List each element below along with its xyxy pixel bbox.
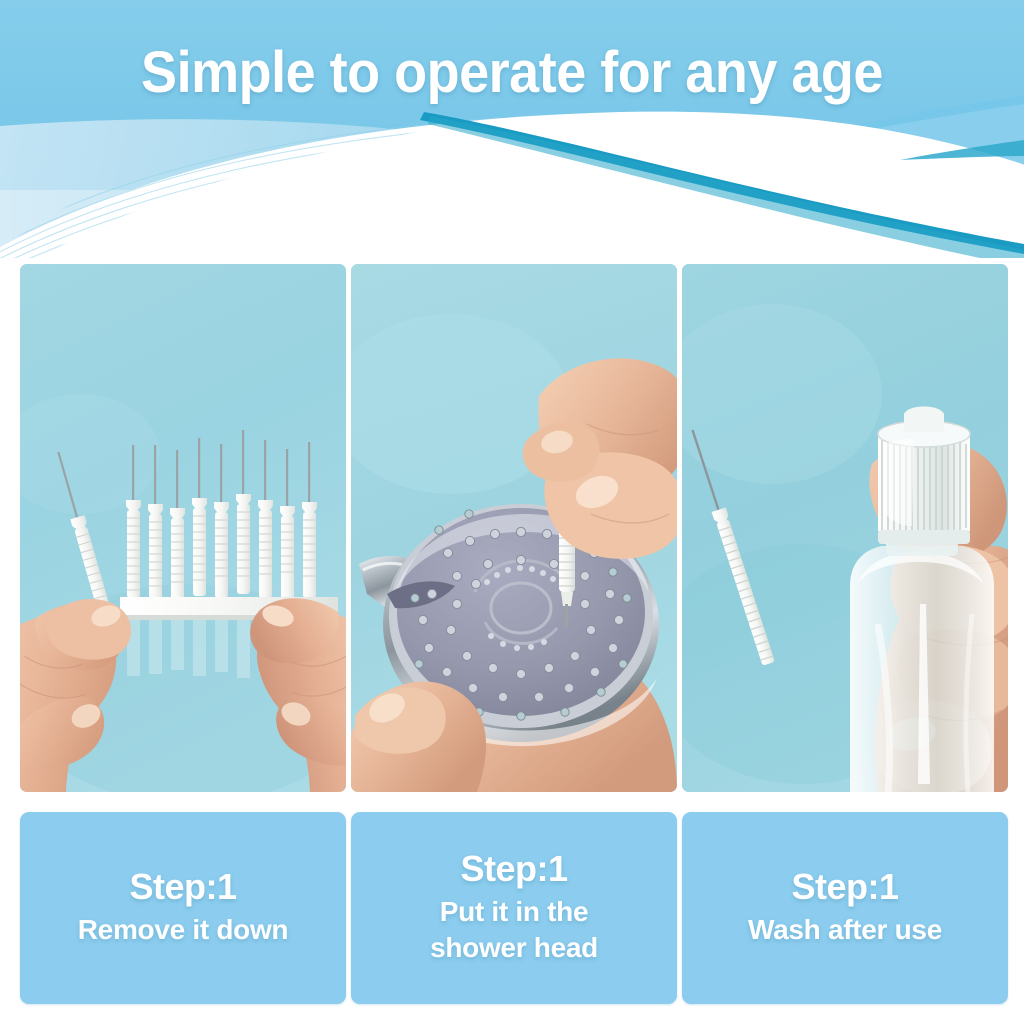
caption-step-label-2: Step:1 — [460, 850, 567, 888]
caption-description-1: Remove it down — [68, 912, 299, 948]
panel-3-scene — [682, 264, 1008, 792]
caption-box-1[interactable]: Step:1 Remove it down — [20, 812, 346, 1004]
caption-row: Step:1 Remove it down Step:1 Put it in t… — [0, 812, 1024, 1008]
caption-line: Wash after use — [748, 912, 942, 948]
panel-2-scene — [351, 264, 677, 792]
product-infographic: Simple to operate for any age — [0, 0, 1024, 1024]
photo-panel-2[interactable] — [351, 264, 677, 792]
page-title: Simple to operate for any age — [36, 44, 988, 102]
caption-line: Remove it down — [78, 912, 289, 948]
photo-panel-3[interactable] — [682, 264, 1008, 792]
panel-1-scene — [20, 264, 346, 792]
caption-box-3[interactable]: Step:1 Wash after use — [682, 812, 1008, 1004]
caption-step-label-3: Step:1 — [791, 868, 898, 906]
pump-cap — [878, 407, 970, 537]
caption-description-2: Put it in the shower head — [420, 894, 608, 966]
banner-wave-graphic — [0, 0, 1024, 258]
caption-line: Put it in the — [430, 894, 598, 930]
caption-line: shower head — [430, 930, 598, 966]
photo-panel-1[interactable] — [20, 264, 346, 792]
caption-description-3: Wash after use — [738, 912, 952, 948]
photo-panel-row — [0, 264, 1024, 792]
caption-step-label-1: Step:1 — [129, 868, 236, 906]
header-banner: Simple to operate for any age — [0, 0, 1024, 258]
caption-box-2[interactable]: Step:1 Put it in the shower head — [351, 812, 677, 1004]
